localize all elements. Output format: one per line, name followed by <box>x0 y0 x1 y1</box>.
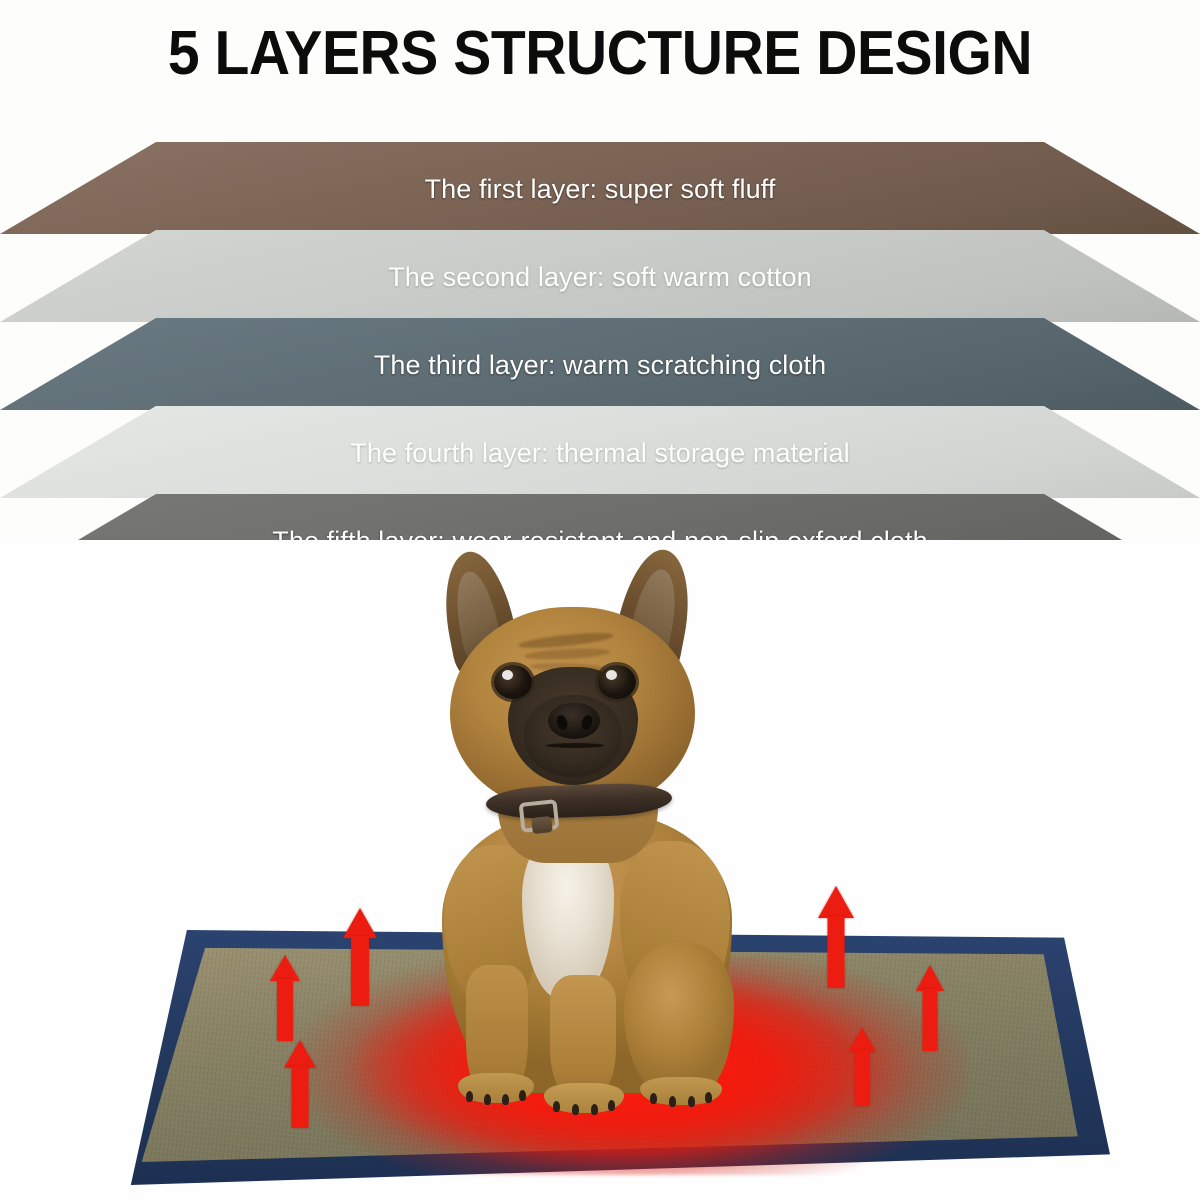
dog-eye-left-glint <box>502 670 513 680</box>
product-infographic: 5 LAYERS STRUCTURE DESIGN The first laye… <box>0 0 1200 1200</box>
arrow-shaft <box>351 936 369 1006</box>
dog-paw-front-right <box>544 1083 624 1113</box>
dog-eye-right-glint <box>606 670 617 680</box>
french-bulldog-photo <box>398 545 758 1120</box>
arrow-shaft <box>277 979 293 1041</box>
arrow-shaft <box>828 916 845 988</box>
arrow-head-icon <box>848 1028 876 1052</box>
arrow-shaft <box>292 1066 309 1128</box>
arrow-shaft <box>923 989 938 1051</box>
layer-row-3: The third layer: warm scratching cloth <box>0 318 1200 410</box>
arrow-head-icon <box>270 955 300 981</box>
dog-front-leg-right <box>550 975 616 1095</box>
layer-row-4: The fourth layer: thermal storage materi… <box>0 406 1200 498</box>
page-title: 5 LAYERS STRUCTURE DESIGN <box>48 18 1152 89</box>
layer-row-2: The second layer: soft warm cotton <box>0 230 1200 322</box>
arrow-head-icon <box>343 908 377 938</box>
layer-label-1: The first layer: super soft fluff <box>0 142 1200 234</box>
dog-paw-rear-right <box>640 1077 722 1105</box>
product-photo-scene <box>0 540 1200 1200</box>
collar-tag-icon <box>531 816 553 834</box>
arrow-head-icon <box>916 965 944 991</box>
layer-row-1: The first layer: super soft fluff <box>0 142 1200 234</box>
layer-label-2: The second layer: soft warm cotton <box>0 230 1200 322</box>
layer-stack: The first layer: super soft fluff The se… <box>0 142 1200 542</box>
dog-haunch <box>624 943 734 1095</box>
arrow-shaft <box>855 1050 870 1106</box>
dog-eye-right <box>598 665 636 699</box>
layer-label-3: The third layer: warm scratching cloth <box>0 318 1200 410</box>
layer-label-4: The fourth layer: thermal storage materi… <box>0 406 1200 498</box>
arrow-head-icon <box>284 1040 316 1068</box>
dog-eye-left <box>494 665 532 699</box>
dog-paw-front-left <box>458 1073 534 1103</box>
arrow-head-icon <box>818 886 854 918</box>
dog-lip-line <box>546 743 604 748</box>
